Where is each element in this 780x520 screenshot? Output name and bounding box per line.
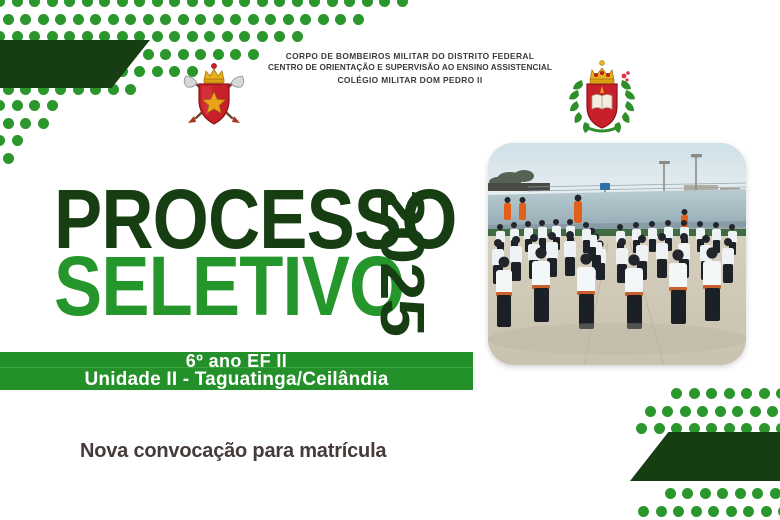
decorative-dot — [335, 14, 346, 25]
decorative-dot — [213, 14, 224, 25]
decorative-dot — [222, 0, 233, 7]
cadets-formation-photo — [488, 143, 746, 365]
decorative-dot — [724, 388, 735, 399]
decorative-dot — [689, 388, 700, 399]
decorative-dot — [708, 506, 719, 517]
header: CORPO DE BOMBEIROS MILITAR DO DISTRITO F… — [0, 28, 780, 110]
decorative-dot — [64, 0, 75, 7]
decorative-dot — [178, 14, 189, 25]
decorative-dot — [700, 488, 711, 499]
decorative-dot — [750, 406, 761, 417]
decorative-dot — [292, 0, 303, 7]
decorative-dot — [362, 0, 373, 7]
decorative-dot — [125, 14, 136, 25]
decorative-dot — [230, 14, 241, 25]
decorative-dot — [770, 488, 780, 499]
decorative-dot — [656, 506, 667, 517]
poster-canvas: CORPO DE BOMBEIROS MILITAR DO DISTRITO F… — [0, 0, 780, 520]
institution-line-1: CORPO DE BOMBEIROS MILITAR DO DISTRITO F… — [255, 50, 565, 62]
decorative-dot — [741, 388, 752, 399]
decorative-dots-left — [0, 100, 82, 170]
decorative-dot — [732, 406, 743, 417]
decorative-dot — [99, 0, 110, 7]
decorative-dot — [761, 506, 772, 517]
decorative-dot — [636, 423, 647, 434]
decorative-dot — [671, 388, 682, 399]
decorative-dot — [204, 0, 215, 7]
decorative-dots-bottom — [612, 488, 780, 520]
decorative-dot — [665, 488, 676, 499]
decorative-dot — [257, 0, 268, 7]
decorative-dot — [160, 14, 171, 25]
decorative-dot — [638, 506, 649, 517]
decorative-dot — [117, 0, 128, 7]
decorative-dot — [248, 14, 259, 25]
decorative-dot — [327, 0, 338, 7]
photo-illustration — [488, 143, 746, 365]
decorative-dot — [300, 14, 311, 25]
institution-line-2: CENTRO DE ORIENTAÇÃO E SUPERVISÃO AO ENS… — [255, 62, 565, 74]
decorative-dot — [274, 0, 285, 7]
decorative-dot — [12, 0, 23, 7]
decorative-dot — [353, 14, 364, 25]
decorative-dot — [379, 0, 390, 7]
decorative-dot — [90, 14, 101, 25]
decorative-dot — [706, 388, 717, 399]
decorative-dot — [717, 488, 728, 499]
decorative-dot — [195, 14, 206, 25]
decorative-dot — [187, 0, 198, 7]
decorative-dot — [743, 506, 754, 517]
decorative-dot — [47, 0, 58, 7]
decorative-dot — [55, 14, 66, 25]
decorative-dot — [776, 388, 780, 399]
decorative-dot — [283, 14, 294, 25]
decorative-dot — [73, 14, 84, 25]
decorative-dot — [344, 0, 355, 7]
decorative-dot — [108, 14, 119, 25]
colegio-crest-icon — [566, 54, 638, 136]
decorative-dot — [662, 406, 673, 417]
grade-banner: 6º ano EF II Unidade II - Taguatinga/Cei… — [0, 352, 473, 390]
decorative-dot — [735, 488, 746, 499]
cbmdf-crest-icon — [178, 58, 250, 132]
decorative-dot — [0, 135, 5, 146]
institution-line-3: COLÉGIO MILITAR DOM PEDRO II — [255, 74, 565, 86]
decorative-dot — [12, 135, 23, 146]
decorative-dot — [697, 406, 708, 417]
decorative-dot — [715, 406, 726, 417]
decorative-dot — [169, 0, 180, 7]
decorative-dot — [20, 118, 31, 129]
decorative-dot — [691, 506, 702, 517]
decorative-dot — [38, 118, 49, 129]
decorative-dot — [397, 0, 408, 7]
decorative-dot — [20, 14, 31, 25]
decorative-dot — [673, 506, 684, 517]
decorative-dot — [3, 118, 14, 129]
decorative-dot — [759, 388, 770, 399]
decorative-dot — [318, 14, 329, 25]
decorative-dot — [265, 14, 276, 25]
institution-title: CORPO DE BOMBEIROS MILITAR DO DISTRITO F… — [255, 50, 565, 86]
title-line-seletivo: SELETIVO — [54, 253, 389, 320]
decorative-dot — [38, 14, 49, 25]
decorative-dot — [134, 0, 145, 7]
decorative-dot — [767, 406, 778, 417]
decorative-dot — [143, 14, 154, 25]
banner-line-unit: Unidade II - Taguatinga/Ceilândia — [0, 369, 473, 391]
decorative-dot — [152, 0, 163, 7]
decorative-dot — [0, 0, 5, 7]
title-year: 2025 — [368, 188, 436, 336]
title-year-text: 2025 — [371, 189, 434, 335]
decorative-dot — [645, 406, 656, 417]
decorative-dot — [726, 506, 737, 517]
decorative-dot — [752, 488, 763, 499]
decorative-dot — [682, 488, 693, 499]
decorative-dot — [3, 153, 14, 164]
decorative-dot — [654, 423, 665, 434]
decorative-dot — [680, 406, 691, 417]
decorative-dot — [3, 14, 14, 25]
decorative-dot — [82, 0, 93, 7]
subtitle-text: Nova convocação para matrícula — [80, 440, 386, 463]
decorative-dot — [29, 0, 40, 7]
decorative-dot — [309, 0, 320, 7]
decorative-dot — [239, 0, 250, 7]
